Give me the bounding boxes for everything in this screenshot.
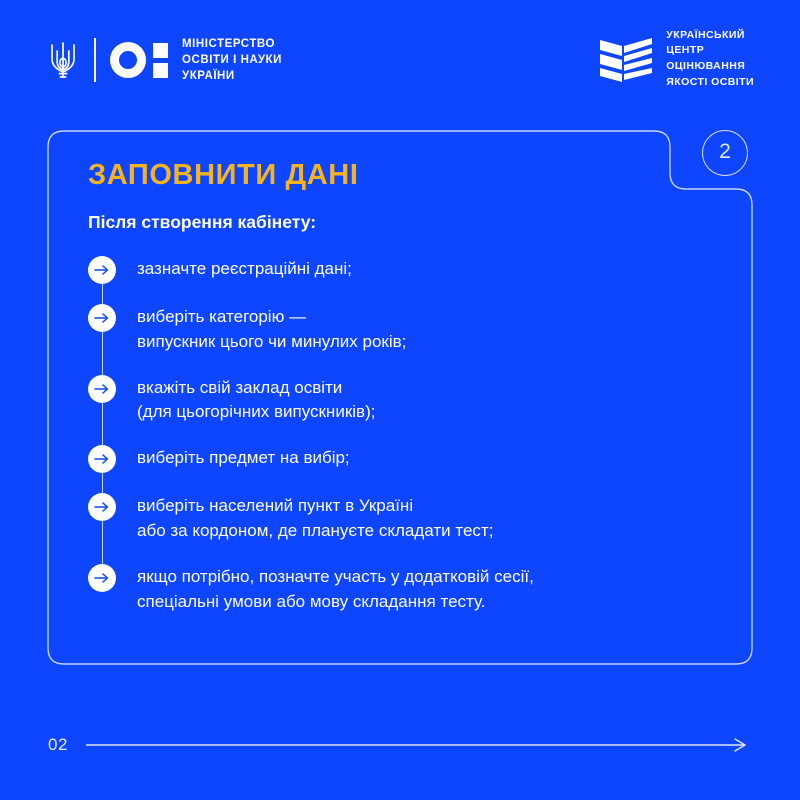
list-item: якщо потрібно, позначте участь у додатко… [88, 563, 728, 615]
open-book-icon [598, 34, 654, 84]
page-footer: 02 [48, 734, 752, 756]
list-item: виберіть категорію — випускник цього чи … [88, 303, 728, 355]
list-item: зазначте реєстраційні дані; [88, 255, 728, 284]
list-item: виберіть населений пункт в Україні або з… [88, 492, 728, 544]
ministry-logo-text: МІНІСТЕРСТВО ОСВІТИ І НАУКИ УКРАЇНИ [182, 36, 282, 85]
list-item-label: виберіть населений пункт в Україні або з… [137, 492, 493, 544]
list-item: вкажіть свій заклад освіти (для цьогоріч… [88, 374, 728, 426]
ukraine-trident-emblem-icon [48, 38, 78, 82]
list-item: виберіть предмет на вибір; [88, 444, 728, 473]
list-item-label: виберіть категорію — випускник цього чи … [137, 303, 406, 355]
testing-center-logo: УКРАЇНСЬКИЙ ЦЕНТР ОЦІНЮВАННЯ ЯКОСТІ ОСВІ… [598, 30, 754, 88]
card-subtitle: Після створення кабінету: [88, 212, 728, 233]
long-arrow-right-icon [86, 737, 752, 753]
arrow-right-icon [88, 256, 116, 284]
page-number: 02 [48, 735, 68, 755]
arrow-right-icon [88, 493, 116, 521]
list-item-label: виберіть предмет на вибір; [137, 444, 350, 471]
logo-divider [94, 38, 96, 82]
mon-ring-shape [110, 42, 146, 78]
list-item-label: якщо потрібно, позначте участь у додатко… [137, 563, 534, 615]
testing-center-logo-text: УКРАЇНСЬКИЙ ЦЕНТР ОЦІНЮВАННЯ ЯКОСТІ ОСВІ… [666, 28, 754, 90]
ministry-of-education-logo: МІНІСТЕРСТВО ОСВІТИ І НАУКИ УКРАЇНИ [48, 34, 282, 86]
arrow-right-icon [88, 375, 116, 403]
mon-o-colon-mark-icon [110, 42, 168, 78]
list-item-label: зазначте реєстраційні дані; [137, 255, 352, 282]
card-content: ЗАПОВНИТИ ДАНІ Після створення кабінету:… [88, 160, 728, 614]
mon-colon-shape [153, 43, 168, 78]
arrow-right-icon [88, 564, 116, 592]
page-title: ЗАПОВНИТИ ДАНІ [88, 160, 728, 192]
arrow-right-icon [88, 445, 116, 473]
page-header: МІНІСТЕРСТВО ОСВІТИ І НАУКИ УКРАЇНИ УКРА… [0, 0, 800, 118]
list-item-label: вкажіть свій заклад освіти (для цьогоріч… [137, 374, 375, 426]
arrow-right-icon [88, 304, 116, 332]
steps-list: зазначте реєстраційні дані; виберіть кат… [88, 255, 728, 615]
